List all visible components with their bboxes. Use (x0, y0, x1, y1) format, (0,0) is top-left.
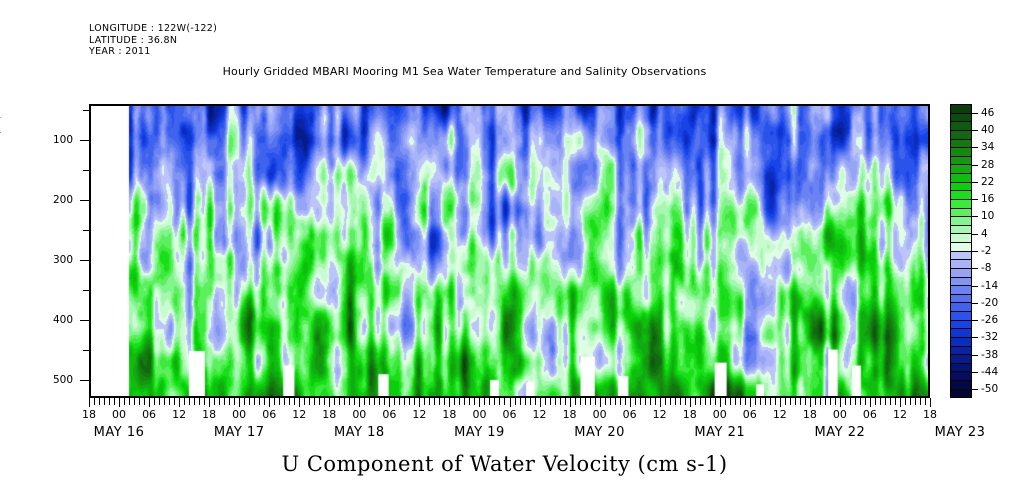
colorbar-tick (972, 251, 978, 252)
x-tick-minor (169, 398, 170, 405)
colorbar-segment (951, 243, 971, 252)
x-tick-minor (204, 398, 205, 405)
colorbar-label: -26 (981, 314, 998, 326)
x-hour-label: 18 (442, 408, 456, 421)
x-hour-label: 00 (112, 408, 126, 421)
x-tick-minor (925, 398, 926, 405)
x-tick-minor (104, 398, 105, 405)
x-tick-minor (755, 398, 756, 405)
x-tick-minor (700, 398, 701, 405)
colorbar-segment (951, 174, 971, 183)
colorbar-label: 10 (981, 210, 994, 222)
x-tick-minor (535, 398, 536, 405)
x-tick-minor (530, 398, 531, 405)
colorbar-segment (951, 390, 971, 398)
x-tick-minor (885, 398, 886, 405)
x-tick-minor (444, 398, 445, 405)
x-tick-minor (775, 398, 776, 405)
x-hour-label: 18 (82, 408, 96, 421)
y-tick-label: 200 (53, 194, 73, 206)
colorbar-segment (951, 260, 971, 269)
x-tick-minor (620, 398, 621, 405)
x-hour-label: 06 (142, 408, 156, 421)
plot-title: Hourly Gridded MBARI Mooring M1 Sea Wate… (0, 65, 1009, 78)
colorbar-segment (951, 347, 971, 356)
x-tick-minor (920, 398, 921, 405)
colorbar-segment (951, 217, 971, 226)
x-tick-minor (830, 398, 831, 405)
x-tick-minor (274, 398, 275, 405)
x-tick-minor (855, 398, 856, 405)
x-tick-minor (324, 398, 325, 405)
colorbar-tick (972, 372, 978, 373)
x-tick-minor (304, 398, 305, 405)
x-tick-minor (184, 398, 185, 405)
station-metadata: LONGITUDE : 122W(-122) LATITUDE : 36.8N … (89, 23, 217, 58)
x-tick-major (149, 398, 150, 407)
colorbar-segment (951, 278, 971, 287)
x-tick-minor (224, 398, 225, 405)
x-tick-minor (294, 398, 295, 405)
colorbar-segment (951, 226, 971, 235)
x-tick-minor (264, 398, 265, 405)
x-hour-label: 12 (653, 408, 667, 421)
x-tick-minor (374, 398, 375, 405)
x-tick-minor (234, 398, 235, 405)
colorbar-segment (951, 312, 971, 321)
x-day-label: MAY 23 (935, 425, 986, 440)
x-tick-major (930, 398, 931, 407)
colorbar-label: 34 (981, 141, 994, 153)
x-tick-minor (489, 398, 490, 405)
x-tick-minor (219, 398, 220, 405)
colorbar-label: -14 (981, 280, 998, 292)
velocity-heatmap (91, 106, 928, 396)
x-tick-minor (710, 398, 711, 405)
x-tick-major (389, 398, 390, 407)
x-hour-label: 00 (232, 408, 246, 421)
x-tick-minor (770, 398, 771, 405)
x-hour-label: 06 (382, 408, 396, 421)
x-tick-minor (284, 398, 285, 405)
x-hour-label: 12 (172, 408, 186, 421)
x-tick-minor (244, 398, 245, 405)
x-hour-label: 12 (533, 408, 547, 421)
x-hour-label: 00 (833, 408, 847, 421)
colorbar-label: -38 (981, 349, 998, 361)
x-tick-minor (545, 398, 546, 405)
x-tick-minor (409, 398, 410, 405)
y-tick-major (80, 380, 89, 381)
x-day-label: MAY 17 (214, 425, 265, 440)
colorbar-segment (951, 295, 971, 304)
colorbar-label: 40 (981, 124, 994, 136)
x-tick-minor (404, 398, 405, 405)
x-tick-major (900, 398, 901, 407)
x-tick-minor (835, 398, 836, 405)
x-hour-label: 00 (713, 408, 727, 421)
x-tick-minor (580, 398, 581, 405)
x-tick-minor (194, 398, 195, 405)
x-tick-minor (354, 398, 355, 405)
x-tick-minor (369, 398, 370, 405)
x-tick-minor (109, 398, 110, 405)
x-tick-minor (189, 398, 190, 405)
x-tick-major (299, 398, 300, 407)
x-tick-minor (860, 398, 861, 405)
x-tick-minor (680, 398, 681, 405)
x-tick-major (269, 398, 270, 407)
x-tick-minor (760, 398, 761, 405)
x-tick-minor (164, 398, 165, 405)
x-tick-minor (895, 398, 896, 405)
colorbar-segment (951, 321, 971, 330)
x-tick-minor (229, 398, 230, 405)
x-hour-label: 18 (322, 408, 336, 421)
x-tick-minor (695, 398, 696, 405)
longitude-text: LONGITUDE : 122W(-122) (89, 23, 217, 35)
x-tick-minor (560, 398, 561, 405)
x-tick-minor (715, 398, 716, 405)
y-tick-major (80, 260, 89, 261)
x-tick-major (119, 398, 120, 407)
x-tick-minor (705, 398, 706, 405)
x-tick-minor (154, 398, 155, 405)
x-tick-minor (454, 398, 455, 405)
x-tick-minor (249, 398, 250, 405)
x-tick-minor (314, 398, 315, 405)
x-tick-minor (675, 398, 676, 405)
x-day-label: MAY 19 (454, 425, 505, 440)
x-hour-label: 12 (773, 408, 787, 421)
x-day-label: MAY 16 (94, 425, 145, 440)
x-tick-minor (595, 398, 596, 405)
x-tick-minor (735, 398, 736, 405)
x-tick-minor (439, 398, 440, 405)
x-hour-label: 18 (683, 408, 697, 421)
y-tick-major (80, 320, 89, 321)
colorbar-tick (972, 286, 978, 287)
y-tick-minor (83, 230, 89, 231)
x-tick-major (780, 398, 781, 407)
x-hour-label: 18 (923, 408, 937, 421)
x-tick-minor (525, 398, 526, 405)
x-tick-minor (259, 398, 260, 405)
figure-caption: U Component of Water Velocity (cm s-1) (0, 452, 1009, 476)
colorbar-label: -32 (981, 331, 998, 343)
colorbar-segment (951, 234, 971, 243)
colorbar-segment (951, 269, 971, 278)
y-tick-minor (83, 110, 89, 111)
x-tick-minor (469, 398, 470, 405)
x-tick-minor (790, 398, 791, 405)
colorbar-segment (951, 114, 971, 123)
x-hour-label: 18 (202, 408, 216, 421)
colorbar-segment (951, 303, 971, 312)
x-tick-major (600, 398, 601, 407)
x-tick-major (630, 398, 631, 407)
y-tick-minor (83, 350, 89, 351)
x-tick-minor (434, 398, 435, 405)
x-tick-minor (504, 398, 505, 405)
x-tick-minor (740, 398, 741, 405)
x-tick-minor (625, 398, 626, 405)
x-tick-minor (910, 398, 911, 405)
x-tick-minor (655, 398, 656, 405)
x-tick-minor (364, 398, 365, 405)
x-tick-minor (730, 398, 731, 405)
x-tick-minor (349, 398, 350, 405)
plot-area (89, 104, 930, 398)
colorbar-tick (972, 199, 978, 200)
x-tick-minor (94, 398, 95, 405)
x-hour-label: 00 (472, 408, 486, 421)
x-tick-major (359, 398, 360, 407)
x-day-label: MAY 20 (574, 425, 625, 440)
x-tick-major (239, 398, 240, 407)
colorbar-segment (951, 355, 971, 364)
x-tick-major (660, 398, 661, 407)
x-tick-minor (890, 398, 891, 405)
y-tick-minor (83, 290, 89, 291)
colorbar-label: 28 (981, 159, 994, 171)
x-tick-minor (670, 398, 671, 405)
year-text: YEAR : 2011 (89, 46, 217, 58)
x-tick-minor (815, 398, 816, 405)
x-tick-minor (800, 398, 801, 405)
x-tick-minor (520, 398, 521, 405)
x-tick-minor (344, 398, 345, 405)
x-tick-minor (585, 398, 586, 405)
colorbar-segment (951, 191, 971, 200)
x-tick-minor (424, 398, 425, 405)
colorbar-tick (972, 303, 978, 304)
x-tick-minor (880, 398, 881, 405)
x-tick-minor (484, 398, 485, 405)
x-tick-minor (334, 398, 335, 405)
colorbar-label: -8 (981, 262, 991, 274)
colorbar-segment (951, 372, 971, 381)
x-tick-major (690, 398, 691, 407)
x-tick-minor (865, 398, 866, 405)
x-hour-label: 12 (893, 408, 907, 421)
x-hour-label: 06 (262, 408, 276, 421)
x-tick-minor (214, 398, 215, 405)
x-tick-minor (309, 398, 310, 405)
y-axis-label: DEPTH (m) (0, 114, 2, 180)
colorbar-segment (951, 131, 971, 140)
x-tick-major (479, 398, 480, 407)
colorbar-tick (972, 147, 978, 148)
colorbar-label: -44 (981, 366, 998, 378)
x-tick-minor (394, 398, 395, 405)
x-tick-minor (279, 398, 280, 405)
x-tick-minor (174, 398, 175, 405)
colorbar-label: -2 (981, 245, 991, 257)
x-tick-minor (550, 398, 551, 405)
x-hour-label: 18 (563, 408, 577, 421)
x-tick-minor (399, 398, 400, 405)
x-tick-major (570, 398, 571, 407)
x-tick-minor (254, 398, 255, 405)
x-tick-minor (199, 398, 200, 405)
x-tick-minor (134, 398, 135, 405)
x-tick-major (449, 398, 450, 407)
x-tick-major (810, 398, 811, 407)
x-day-label: MAY 21 (694, 425, 745, 440)
x-hour-label: 18 (803, 408, 817, 421)
x-tick-minor (494, 398, 495, 405)
y-tick-major (80, 200, 89, 201)
x-tick-minor (650, 398, 651, 405)
x-tick-minor (319, 398, 320, 405)
x-hour-label: 06 (863, 408, 877, 421)
x-tick-minor (685, 398, 686, 405)
x-tick-major (329, 398, 330, 407)
colorbar-segment (951, 252, 971, 261)
x-tick-minor (139, 398, 140, 405)
colorbar-segment (951, 209, 971, 218)
colorbar-tick (972, 389, 978, 390)
x-tick-minor (565, 398, 566, 405)
colorbar-tick (972, 216, 978, 217)
x-day-label: MAY 22 (815, 425, 866, 440)
colorbar-tick (972, 165, 978, 166)
colorbar-tick (972, 355, 978, 356)
x-tick-major (89, 398, 90, 407)
y-tick-label: 500 (53, 374, 73, 386)
colorbar-segment (951, 381, 971, 390)
x-tick-major (540, 398, 541, 407)
x-tick-minor (590, 398, 591, 405)
colorbar-segment (951, 165, 971, 174)
x-tick-minor (144, 398, 145, 405)
x-tick-minor (825, 398, 826, 405)
colorbar-segment (951, 286, 971, 295)
colorbar-tick (972, 234, 978, 235)
x-tick-minor (429, 398, 430, 405)
x-tick-major (209, 398, 210, 407)
x-tick-minor (384, 398, 385, 405)
x-tick-major (510, 398, 511, 407)
colorbar-label: 4 (981, 228, 988, 240)
x-tick-minor (464, 398, 465, 405)
y-tick-label: 400 (53, 314, 73, 326)
colorbar-tick (972, 268, 978, 269)
x-tick-minor (745, 398, 746, 405)
x-tick-minor (99, 398, 100, 405)
x-tick-minor (605, 398, 606, 405)
colorbar-segment (951, 364, 971, 373)
y-tick-minor (83, 170, 89, 171)
x-tick-minor (114, 398, 115, 405)
y-tick-label: 300 (53, 254, 73, 266)
colorbar-segment (951, 140, 971, 149)
x-tick-minor (785, 398, 786, 405)
x-tick-minor (635, 398, 636, 405)
latitude-text: LATITUDE : 36.8N (89, 35, 217, 47)
x-tick-major (870, 398, 871, 407)
x-tick-minor (915, 398, 916, 405)
x-tick-minor (610, 398, 611, 405)
colorbar-tick (972, 130, 978, 131)
x-tick-minor (289, 398, 290, 405)
x-hour-label: 00 (352, 408, 366, 421)
x-tick-major (179, 398, 180, 407)
colorbar (950, 104, 972, 398)
colorbar-segment (951, 105, 971, 114)
colorbar-label: 22 (981, 176, 994, 188)
colorbar-segment (951, 200, 971, 209)
x-tick-major (419, 398, 420, 407)
colorbar-segment (951, 148, 971, 157)
x-tick-minor (474, 398, 475, 405)
x-tick-minor (905, 398, 906, 405)
x-tick-minor (499, 398, 500, 405)
x-tick-minor (129, 398, 130, 405)
colorbar-segment (951, 157, 971, 166)
plot-root: LONGITUDE : 122W(-122) LATITUDE : 36.8N … (0, 0, 1009, 504)
x-hour-label: 00 (593, 408, 607, 421)
x-tick-minor (820, 398, 821, 405)
x-hour-label: 12 (292, 408, 306, 421)
colorbar-segment (951, 122, 971, 131)
x-tick-minor (725, 398, 726, 405)
colorbar-tick (972, 320, 978, 321)
y-tick-label: 100 (53, 134, 73, 146)
x-tick-minor (615, 398, 616, 405)
colorbar-label: 16 (981, 193, 994, 205)
colorbar-tick (972, 337, 978, 338)
x-tick-minor (805, 398, 806, 405)
x-tick-minor (555, 398, 556, 405)
colorbar-segment (951, 338, 971, 347)
x-tick-minor (339, 398, 340, 405)
x-tick-minor (845, 398, 846, 405)
x-tick-minor (645, 398, 646, 405)
x-hour-label: 12 (412, 408, 426, 421)
colorbar-label: -50 (981, 383, 998, 395)
x-tick-minor (575, 398, 576, 405)
x-tick-minor (795, 398, 796, 405)
x-tick-minor (850, 398, 851, 405)
x-day-label: MAY 18 (334, 425, 385, 440)
x-tick-minor (124, 398, 125, 405)
colorbar-label: 46 (981, 107, 994, 119)
x-hour-label: 06 (503, 408, 517, 421)
x-tick-minor (459, 398, 460, 405)
x-tick-minor (414, 398, 415, 405)
x-tick-minor (875, 398, 876, 405)
colorbar-tick (972, 113, 978, 114)
x-tick-major (720, 398, 721, 407)
x-tick-minor (640, 398, 641, 405)
x-tick-minor (665, 398, 666, 405)
x-tick-major (750, 398, 751, 407)
x-tick-minor (159, 398, 160, 405)
x-tick-minor (765, 398, 766, 405)
colorbar-segment (951, 183, 971, 192)
y-tick-major (80, 140, 89, 141)
colorbar-tick (972, 182, 978, 183)
x-tick-minor (379, 398, 380, 405)
x-tick-minor (515, 398, 516, 405)
x-hour-label: 06 (743, 408, 757, 421)
x-tick-major (840, 398, 841, 407)
colorbar-label: -20 (981, 297, 998, 309)
x-hour-label: 06 (623, 408, 637, 421)
colorbar-segment (951, 329, 971, 338)
